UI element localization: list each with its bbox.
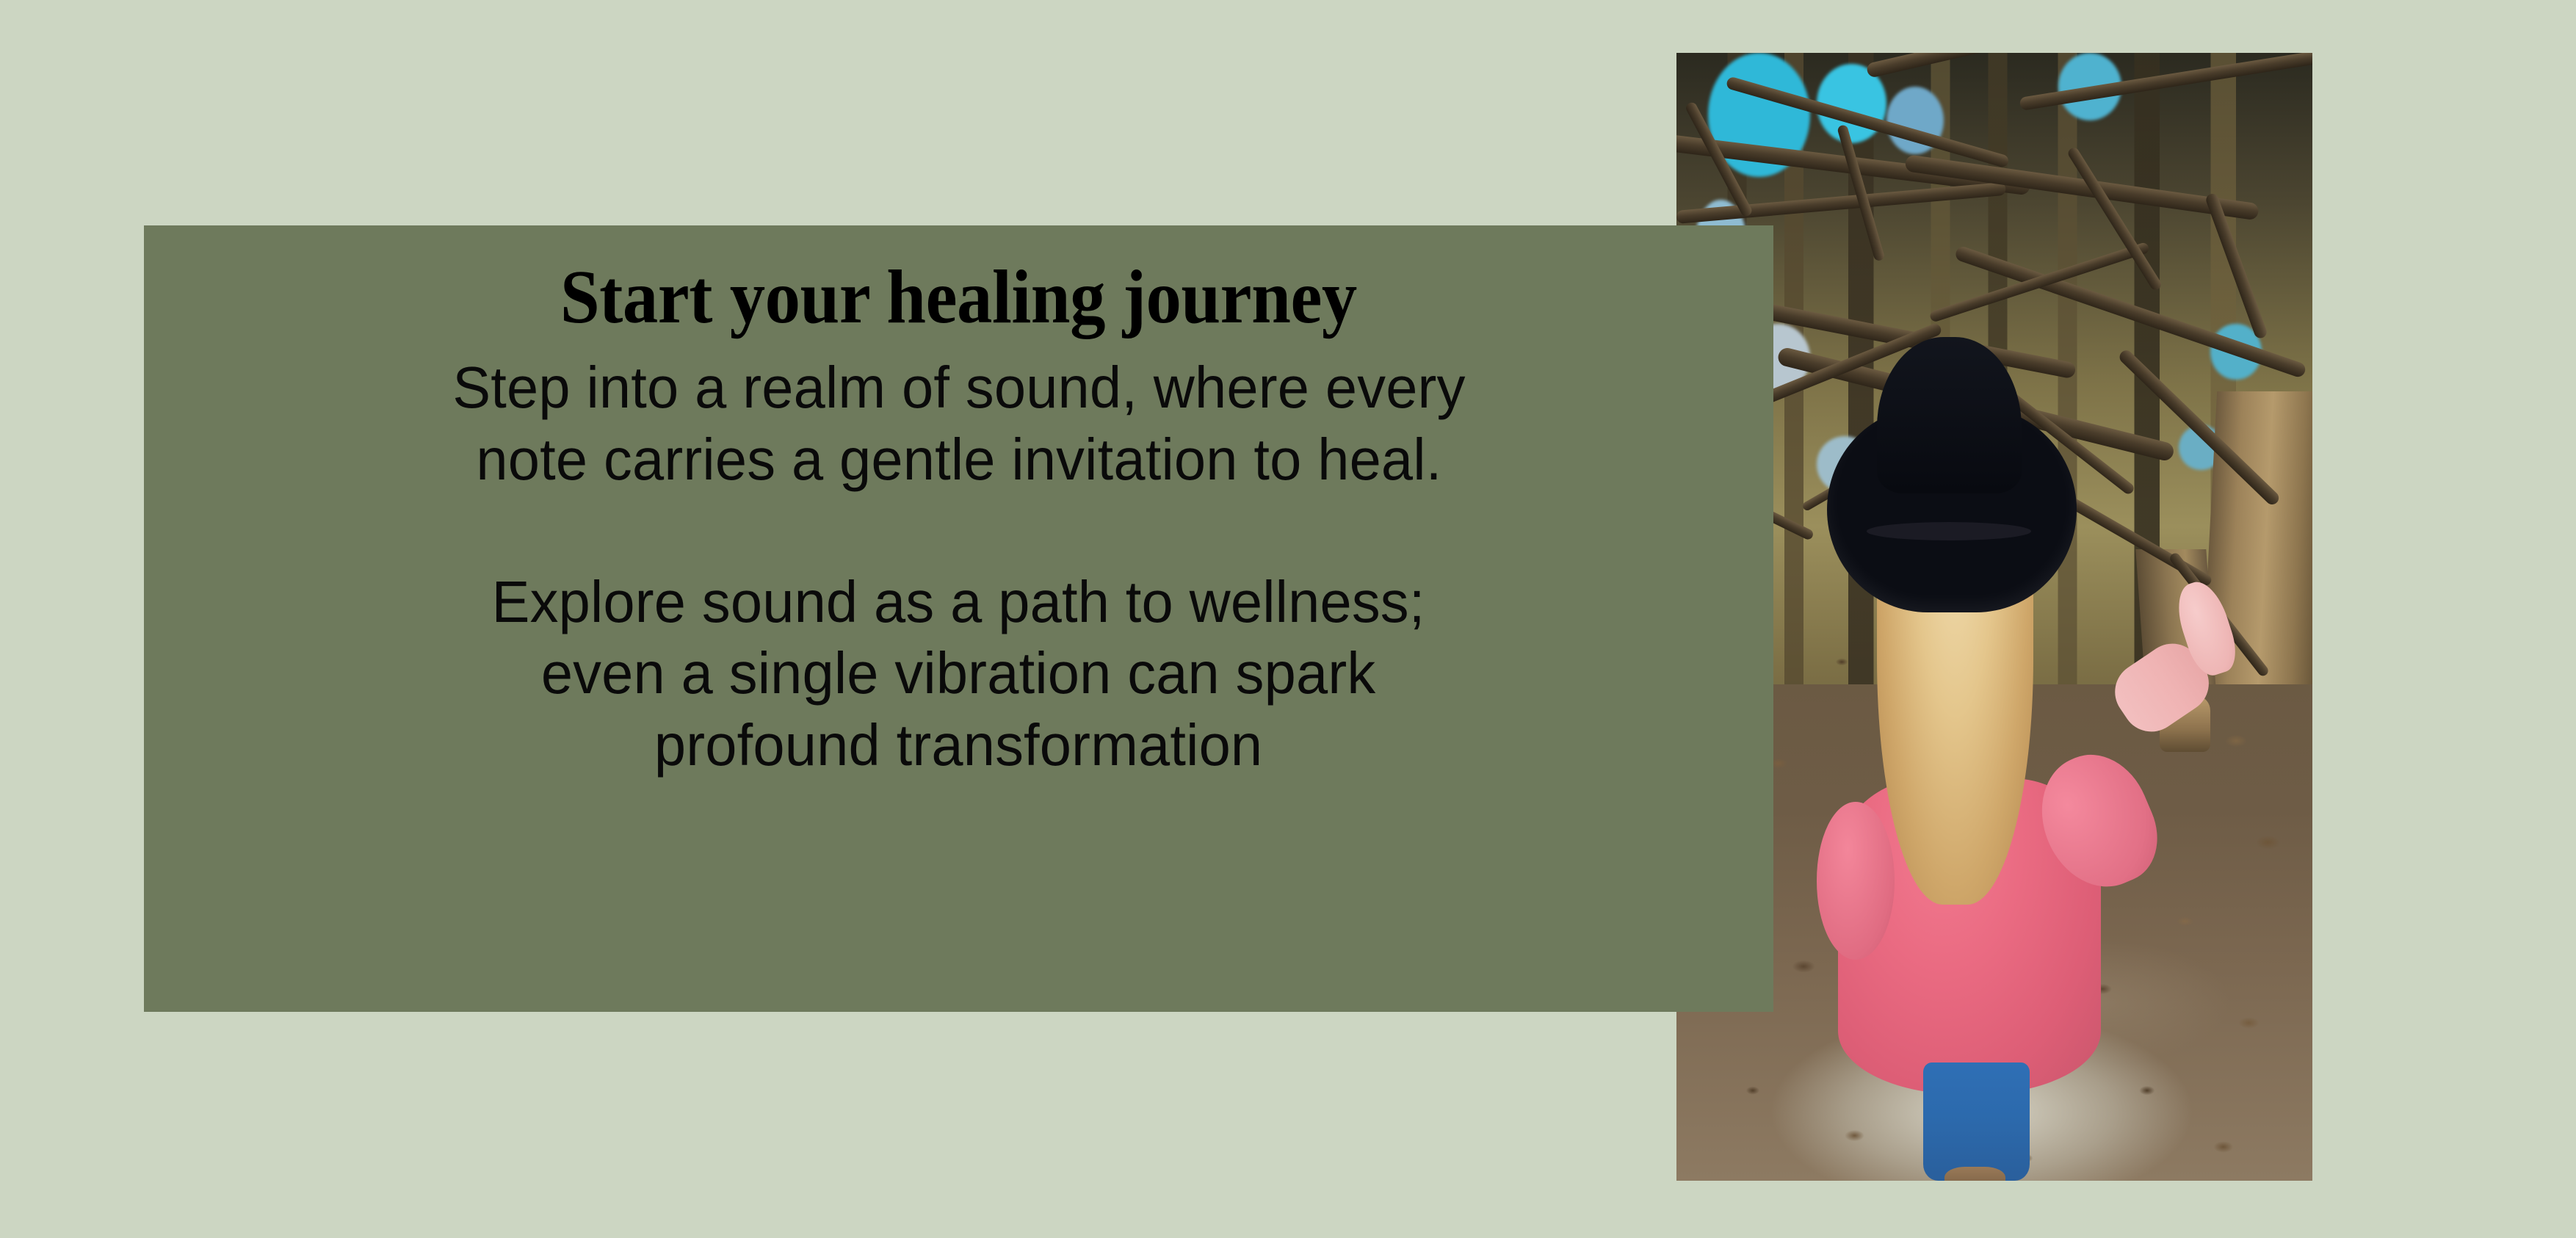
lede-line: note carries a gentle invitation to heal… xyxy=(452,424,1465,496)
page-title: Start your healing journey xyxy=(560,256,1357,339)
black-hat-brim xyxy=(1827,407,2076,612)
walking-boot xyxy=(1944,1167,2005,1181)
black-hat-crown xyxy=(1877,337,2022,493)
text-panel: Start your healing journey Step into a r… xyxy=(144,225,1773,1012)
person-figure xyxy=(1817,391,2173,1181)
body-line: even a single vibration can spark xyxy=(492,637,1425,709)
body-line: profound transformation xyxy=(492,709,1425,781)
blue-jeans xyxy=(1923,1063,2030,1181)
hat-band xyxy=(1867,522,2031,540)
left-sleeve xyxy=(1817,802,1895,960)
body-line: Explore sound as a path to wellness; xyxy=(492,566,1425,638)
body-paragraph: Explore sound as a path to wellness; eve… xyxy=(492,566,1425,781)
lede-line: Step into a realm of sound, where every xyxy=(452,352,1465,424)
lede-paragraph: Step into a realm of sound, where every … xyxy=(452,352,1465,495)
poster-canvas: Start your healing journey Step into a r… xyxy=(0,0,2576,1238)
